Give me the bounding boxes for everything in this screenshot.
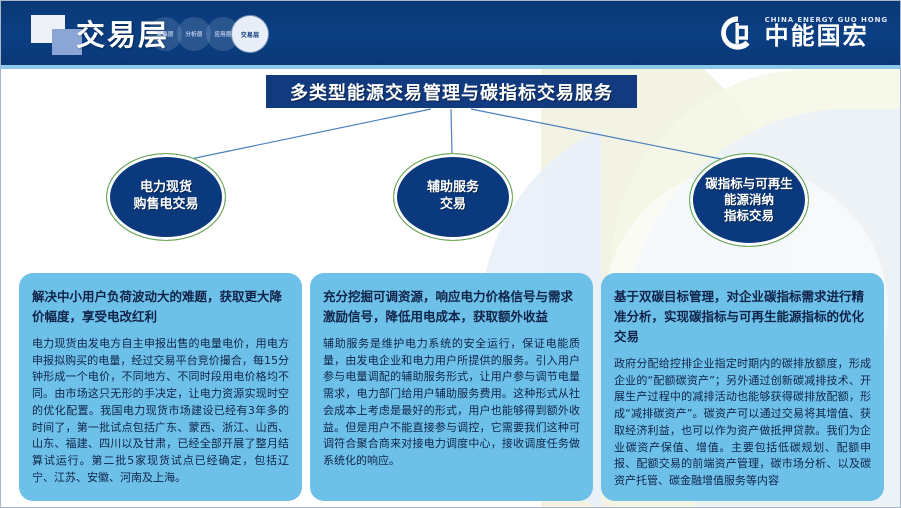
node-label: 辅助服务交易 [427,180,479,213]
card-spot-power-trading: 解决中小用户负荷波动大的难题，获取更大降价幅度，享受电改红利 电力现货由发电方自… [19,273,302,501]
node-label: 碳指标与可再生能源消纳指标交易 [705,176,793,224]
card-heading: 解决中小用户负荷波动大的难题，获取更大降价幅度，享受电改红利 [32,287,289,327]
card-heading: 充分挖掘可调资源，响应电力价格信号与需求激励信号，降低用电成本，获取额外收益 [323,287,580,327]
slide-canvas: 交易层 采集层 分析层 应用层 交易层 CHINA ENERGY GUO HON… [0,0,901,508]
banner-title: 多类型能源交易管理与碳指标交易服务 [266,75,637,108]
card-body: 辅助服务是维护电力系统的安全运行，保证电能质量，由发电企业和电力用户所提供的服务… [323,336,580,470]
card-carbon-index-trading: 基于双碳目标管理，对企业碳指标需求进行精准分析，实现碳指标与可再生能源指标的优化… [601,273,884,501]
card-body: 电力现货由发电方自主申报出售的电量电价，用电方申报拟购买的电量，经过交易平台竞价… [32,336,289,486]
card-heading: 基于双碳目标管理，对企业碳指标需求进行精准分析，实现碳指标与可再生能源指标的优化… [614,287,871,347]
node-ancillary-service-trading[interactable]: 辅助服务交易 [393,153,513,241]
node-carbon-renewable-index-trading[interactable]: 碳指标与可再生能源消纳指标交易 [689,153,809,247]
card-body: 政府分配给控排企业指定时期内的碳排放额度，形成企业的“配额碳资产”；另外通过创新… [614,356,871,490]
card-ancillary-service-trading: 充分挖掘可调资源，响应电力价格信号与需求激励信号，降低用电成本，获取额外收益 辅… [310,273,593,501]
node-label: 电力现货购售电交易 [133,180,198,213]
node-spot-power-trading[interactable]: 电力现货购售电交易 [106,153,226,241]
banner-title-text: 多类型能源交易管理与碳指标交易服务 [290,79,613,105]
